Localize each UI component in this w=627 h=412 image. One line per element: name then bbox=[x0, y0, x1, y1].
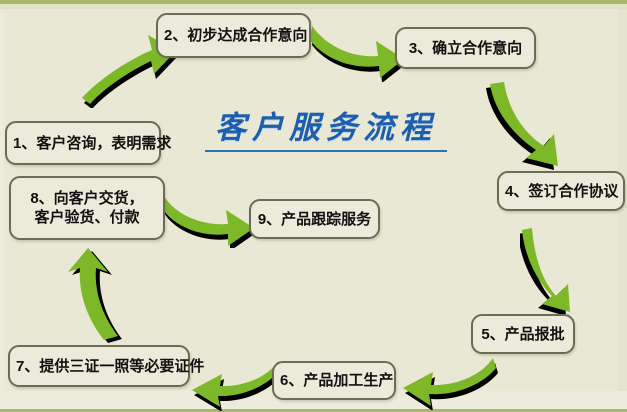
node-step1-line1: 1、客户咨询，表明需求 bbox=[13, 135, 171, 152]
diagram-title: 客户服务流程 bbox=[196, 108, 456, 152]
node-step2[interactable]: 2、初步达成合作意向 bbox=[156, 13, 311, 58]
node-step3[interactable]: 3、确立合作意向 bbox=[395, 27, 536, 69]
node-step4-line1: 4、签订合作协议 bbox=[505, 183, 618, 200]
node-step8-line1: 8、向客户交货， bbox=[17, 189, 157, 208]
arrow-4-to-5 bbox=[520, 222, 598, 314]
diagram-title-text: 客户服务流程 bbox=[196, 108, 456, 148]
node-step6-line1: 6、产品加工生产 bbox=[280, 372, 393, 389]
top-border-highlight bbox=[0, 4, 627, 9]
node-step9[interactable]: 9、产品跟踪服务 bbox=[249, 199, 380, 239]
left-border-highlight bbox=[0, 9, 4, 391]
node-step1[interactable]: 1、客户咨询，表明需求 bbox=[5, 121, 161, 165]
node-step7[interactable]: 7、提供三证一照等必要证件 bbox=[8, 345, 190, 387]
node-step8[interactable]: 8、向客户交货， 客户验货、付款 bbox=[9, 176, 165, 240]
node-step4[interactable]: 4、签订合作协议 bbox=[497, 171, 625, 211]
node-step8-line2: 客户验货、付款 bbox=[17, 208, 157, 227]
node-step7-line1: 7、提供三证一照等必要证件 bbox=[16, 358, 204, 375]
customer-service-flowchart: 客户服务流程 1、 bbox=[0, 0, 627, 412]
node-step6[interactable]: 6、产品加工生产 bbox=[272, 361, 396, 400]
node-step5[interactable]: 5、产品报批 bbox=[471, 314, 575, 354]
node-step5-line1: 5、产品报批 bbox=[481, 326, 564, 343]
arrow-8-to-9 bbox=[160, 186, 260, 248]
node-step2-line1: 2、初步达成合作意向 bbox=[164, 27, 307, 44]
title-underline bbox=[205, 150, 447, 152]
arrow-2-to-3 bbox=[308, 14, 408, 82]
arrow-3-to-4 bbox=[486, 74, 578, 170]
arrow-7-to-8 bbox=[66, 246, 124, 344]
node-step3-line1: 3、确立合作意向 bbox=[409, 40, 522, 57]
node-step9-line1: 9、产品跟踪服务 bbox=[258, 211, 371, 228]
